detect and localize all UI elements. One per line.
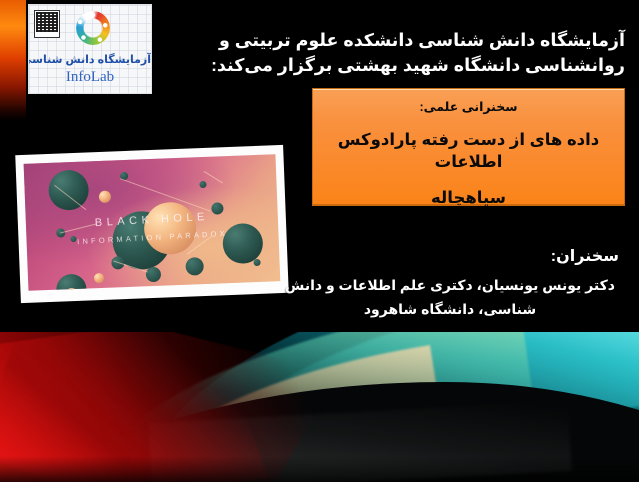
bottom-decorative-waves xyxy=(0,332,639,482)
logo-name-en: InfoLab xyxy=(29,69,151,86)
artwork-sphere-lit xyxy=(94,273,104,283)
event-poster: آزمایشگاه دانش شناسی InfoLab آزمایشگاه د… xyxy=(0,0,639,482)
black-hole-artwork: BLACK HOLE INFORMATION PARADOX xyxy=(24,154,281,291)
speaker-name-line-1: دکتر یونس یونسیان، دکتری علم اطلاعات و د… xyxy=(275,273,625,297)
artwork-sphere xyxy=(253,259,260,266)
black-hole-image-frame: BLACK HOLE INFORMATION PARADOX xyxy=(15,145,288,303)
speaker-block: سخنران: دکتر یونس یونسیان، دکتری علم اطل… xyxy=(275,246,625,321)
left-orange-strip xyxy=(0,0,26,120)
artwork-sphere xyxy=(199,181,206,188)
organizer-header-line-2: روانشناسی دانشگاه شهید بهشتی برگزار می‌ک… xyxy=(145,53,625,78)
artwork-connector xyxy=(204,171,223,183)
qr-code-pattern xyxy=(36,12,58,32)
organizer-header-line-1: آزمایشگاه دانش شناسی دانشکده علوم تربیتی… xyxy=(145,28,625,53)
infolab-logo-card: آزمایشگاه دانش شناسی InfoLab xyxy=(28,4,152,94)
lecture-title-box: سخنرانی علمی: داده های از دست رفته پاراد… xyxy=(312,88,625,206)
bottom-dark-fade xyxy=(0,456,639,482)
artwork-sphere-lit xyxy=(99,191,111,203)
color-swirl-dots-icon xyxy=(76,11,110,45)
logo-name-fa: آزمایشگاه دانش شناسی xyxy=(29,53,151,66)
speaker-name-line-2: شناسی، دانشگاه شاهرود xyxy=(275,297,625,321)
lecture-kicker: سخنرانی علمی: xyxy=(313,98,624,116)
lecture-title-main: داده های از دست رفته پارادوکس اطلاعات xyxy=(313,129,624,173)
organizer-header: آزمایشگاه دانش شناسی دانشکده علوم تربیتی… xyxy=(145,28,625,78)
artwork-sphere xyxy=(48,169,90,211)
speaker-label: سخنران: xyxy=(275,246,625,268)
artwork-sphere xyxy=(185,257,204,276)
artwork-sphere-lit xyxy=(143,201,197,255)
lecture-title-sub: سیاهچاله xyxy=(313,187,624,209)
artwork-sphere xyxy=(146,267,162,283)
qr-code-icon xyxy=(34,10,60,38)
